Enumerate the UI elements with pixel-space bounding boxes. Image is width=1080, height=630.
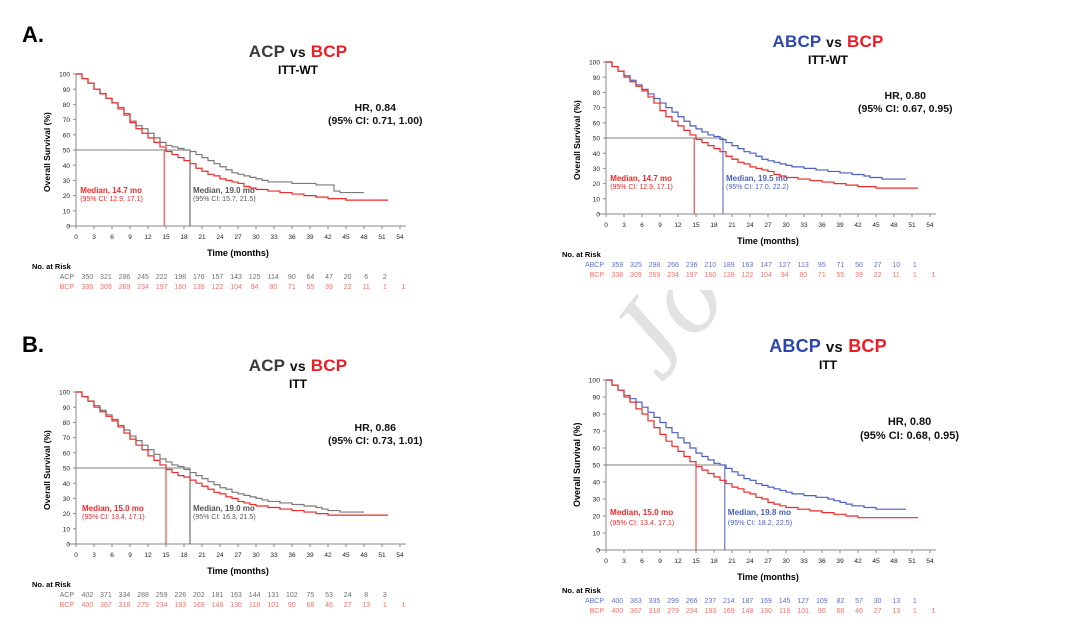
x-tick-label: 39 [306,552,314,559]
risk-cell: 197 [152,283,171,293]
x-tick-label: 36 [288,552,296,559]
x-tick-label: 42 [854,558,862,565]
risk-cell: 90 [813,607,832,617]
risk-table-row: BCP4003673182792341931691481301181019068… [48,601,431,611]
panel-b-letter: B. [22,332,44,358]
risk-table-header: No. at Risk [32,580,71,589]
x-axis-label: Time (months) [606,572,930,582]
risk-table-header: No. at Risk [562,250,601,259]
risk-cell: 193 [171,601,190,611]
median-annotation-red: Median, 15.0 mo(95% CI: 13.4, 17.1) [610,508,674,527]
x-tick-label: 45 [872,222,880,229]
risk-cell: 371 [97,591,116,601]
survival-plot: 1009080706050403020100036912151821242730… [18,40,538,244]
risk-cell: 266 [682,597,701,607]
y-tick-label: 20 [63,193,71,200]
risk-cell: 245 [134,273,153,283]
risk-cell: 266 [664,261,683,271]
risk-cell: 400 [608,607,627,617]
median-red-label: Median, 14.7 mo [610,174,673,184]
y-tick-label: 40 [592,480,600,487]
x-tick-label: 27 [234,234,242,241]
y-tick-label: 0 [66,542,70,549]
y-tick-label: 60 [63,450,71,457]
x-tick-label: 54 [926,558,934,565]
y-tick-label: 0 [596,548,600,555]
median-annotation-red: Median, 14.7 mo(95% CI: 12.9, 17.1) [80,186,143,205]
y-tick-label: 80 [593,90,601,97]
x-tick-label: 54 [926,222,934,229]
y-tick-label: 10 [63,208,71,215]
risk-table-row: ABCP400363335299266237214187169145127109… [578,597,961,607]
x-tick-label: 0 [74,234,78,241]
risk-cell: 114 [264,273,283,283]
x-tick-label: 27 [764,558,772,565]
x-tick-label: 9 [128,552,132,559]
risk-row-label: BCP [578,607,608,617]
risk-cell: 187 [738,597,757,607]
y-tick-label: 100 [59,390,70,397]
x-tick-label: 6 [110,234,114,241]
panel-a-letter: A. [22,22,44,48]
risk-cell: 1 [924,607,943,617]
x-tick-label: 18 [710,222,718,229]
x-tick-label: 12 [144,234,152,241]
risk-cell: 222 [152,273,171,283]
risk-cell: 94 [775,271,794,281]
risk-cell: 27 [338,601,357,611]
y-tick-label: 60 [592,446,600,453]
risk-cell: 1 [906,261,925,271]
median-annotation-other: Median, 19.0 mo(95% CI: 15.7, 21.5) [193,186,256,205]
risk-cell: 125 [245,273,264,283]
x-tick-label: 3 [622,222,626,229]
risk-table-row: BCP4003673182792341931691481301181019068… [578,607,961,617]
risk-cell: 147 [757,261,776,271]
x-tick-label: 9 [658,222,662,229]
risk-cell: 94 [245,283,264,293]
x-tick-label: 48 [890,558,898,565]
risk-row-label: ABCP [578,597,608,607]
risk-cell: 359 [608,261,627,271]
risk-cell: 169 [720,607,739,617]
y-tick-label: 30 [63,178,71,185]
median-other-ci: (95% CI: 16.3, 21.5) [193,514,256,523]
y-tick-label: 0 [66,224,70,231]
survival-plot: 1009080706050403020100036912151821242730… [18,348,538,562]
risk-cell: 259 [152,591,171,601]
risk-table: ABCP400363335299266237214187169145127109… [578,597,961,617]
risk-cell: 39 [850,271,869,281]
x-tick-label: 30 [252,234,260,241]
x-tick-label: 24 [216,234,224,241]
risk-cell: 234 [152,601,171,611]
risk-cell: 1 [394,283,413,293]
risk-cell: 27 [868,261,887,271]
x-axis-label: Time (months) [606,236,930,246]
risk-cell: 102 [283,591,302,601]
y-tick-label: 60 [593,120,601,127]
risk-cell: 71 [813,271,832,281]
x-tick-label: 51 [378,552,386,559]
risk-cell: 286 [115,273,134,283]
risk-cell: 321 [97,273,116,283]
risk-cell: 143 [227,273,246,283]
x-tick-label: 48 [360,234,368,241]
risk-cell: 101 [794,607,813,617]
x-tick-label: 51 [378,234,386,241]
risk-cell: 20 [338,273,357,283]
risk-cell: 118 [775,607,794,617]
risk-cell: 338 [608,271,627,281]
risk-cell: 80 [794,271,813,281]
y-tick-label: 100 [59,72,70,79]
risk-cell: 1 [906,271,925,281]
risk-cell: 367 [627,607,646,617]
median-other-label: Median, 19.8 mo [728,508,792,518]
risk-cell: 104 [757,271,776,281]
risk-cell: 101 [264,601,283,611]
median-red-label: Median, 15.0 mo [610,508,674,518]
risk-cell: 80 [264,283,283,293]
x-tick-label: 15 [162,552,170,559]
x-tick-label: 0 [74,552,78,559]
risk-cell: 24 [338,591,357,601]
risk-cell: 163 [227,591,246,601]
risk-cell: 325 [627,261,646,271]
risk-cell: 57 [850,597,869,607]
risk-cell: 269 [645,271,664,281]
risk-cell: 22 [868,271,887,281]
risk-cell: 400 [608,597,627,607]
risk-cell: 139 [190,283,209,293]
y-tick-label: 90 [593,75,601,82]
x-tick-label: 6 [640,558,644,565]
x-tick-label: 51 [908,222,916,229]
risk-cell: 30 [868,597,887,607]
risk-cell: 13 [357,601,376,611]
median-annotation-other: Median, 19.5 mo(95% CI: 17.0, 22.2) [726,174,789,193]
y-tick-label: 20 [63,511,71,518]
chart-panel-b-left: ACP vs BCPITTHR, 0.86(95% CI: 0.73, 1.01… [18,348,538,629]
risk-table-header: No. at Risk [562,586,601,595]
risk-cell: 148 [208,601,227,611]
risk-cell: 202 [190,591,209,601]
x-tick-label: 9 [658,558,662,565]
y-tick-label: 20 [592,514,600,521]
x-tick-label: 24 [746,558,754,565]
y-tick-label: 100 [589,378,601,385]
y-tick-label: 30 [592,497,600,504]
risk-cell: 309 [627,271,646,281]
risk-cell: 113 [794,261,813,271]
x-axis-label: Time (months) [76,248,400,258]
risk-cell: 46 [320,601,339,611]
x-tick-label: 0 [604,222,608,229]
chart-panel-b-right: ABCP vs BCPITTHR, 0.80(95% CI: 0.68, 0.9… [548,330,1068,629]
risk-cell: 309 [97,283,116,293]
risk-cell: 169 [757,597,776,607]
x-tick-label: 42 [324,552,332,559]
risk-table-header: No. at Risk [32,262,71,271]
x-tick-label: 33 [270,552,278,559]
x-tick-label: 21 [728,222,736,229]
x-tick-label: 45 [342,234,350,241]
risk-cell: 318 [645,607,664,617]
x-tick-label: 30 [782,558,790,565]
risk-cell: 176 [190,273,209,283]
risk-cell: 71 [831,261,850,271]
y-tick-label: 40 [63,481,71,488]
x-tick-label: 48 [890,222,898,229]
risk-cell: 130 [757,607,776,617]
risk-row-label: BCP [48,601,78,611]
risk-row-label: ABCP [578,261,608,271]
survival-curve-abcp [606,62,906,179]
survival-curve-bcp [76,74,388,200]
median-red-ci: (95% CI: 13.4, 17.1) [82,514,145,523]
risk-cell: 198 [171,273,190,283]
risk-cell: 71 [283,283,302,293]
x-tick-label: 30 [252,552,260,559]
risk-cell: 22 [338,283,357,293]
y-tick-label: 30 [593,166,601,173]
risk-cell: 367 [97,601,116,611]
risk-cell: 68 [831,607,850,617]
risk-row-label: BCP [48,283,78,293]
median-red-label: Median, 14.7 mo [80,186,143,196]
x-axis-label: Time (months) [76,566,400,576]
y-tick-label: 10 [592,531,600,538]
x-tick-label: 54 [396,552,404,559]
risk-cell: 75 [301,591,320,601]
median-red-ci: (95% CI: 12.9, 17.1) [610,184,673,193]
y-tick-label: 80 [592,412,600,419]
risk-cell: 169 [190,601,209,611]
x-tick-label: 6 [640,222,644,229]
risk-cell: 160 [701,271,720,281]
risk-cell: 279 [664,607,683,617]
x-tick-label: 48 [360,552,368,559]
risk-cell: 13 [887,607,906,617]
risk-cell: 214 [720,597,739,607]
y-tick-label: 70 [63,435,71,442]
risk-cell: 47 [320,273,339,283]
risk-cell: 1 [376,601,395,611]
x-tick-label: 27 [764,222,772,229]
y-tick-label: 40 [593,151,601,158]
risk-cell: 2 [376,273,395,283]
y-tick-label: 90 [63,405,71,412]
risk-cell: 279 [134,601,153,611]
median-red-ci: (95% CI: 13.4, 17.1) [610,518,674,527]
risk-cell: 139 [720,271,739,281]
y-tick-label: 10 [63,526,71,533]
y-tick-label: 100 [589,60,600,67]
risk-table-row: BCP3383092692341971601391221049480715539… [578,271,961,281]
risk-cell: 27 [868,607,887,617]
risk-cell: 335 [645,597,664,607]
risk-cell: 1 [906,607,925,617]
x-tick-label: 24 [746,222,754,229]
x-tick-label: 21 [728,558,736,565]
y-tick-label: 70 [593,105,601,112]
risk-cell: 400 [78,601,97,611]
risk-cell: 109 [813,597,832,607]
y-tick-label: 20 [593,181,601,188]
x-tick-label: 30 [782,222,790,229]
risk-row-label: ACP [48,273,78,283]
risk-cell: 193 [701,607,720,617]
x-tick-label: 15 [692,222,700,229]
x-tick-label: 24 [216,552,224,559]
risk-cell: 237 [701,597,720,607]
risk-cell: 131 [264,591,283,601]
risk-table-row: ACP3503212862452221981761571431251149064… [48,273,431,283]
x-tick-label: 15 [162,234,170,241]
risk-cell: 46 [850,607,869,617]
y-tick-label: 50 [63,148,71,155]
risk-cell: 1 [376,283,395,293]
risk-row-label: BCP [578,271,608,281]
risk-cell: 10 [887,261,906,271]
risk-cell: 163 [738,261,757,271]
risk-cell: 269 [115,283,134,293]
risk-table-row: ACP4023713342882592262021811631441311027… [48,591,431,601]
risk-cell: 234 [682,607,701,617]
x-tick-label: 12 [674,558,682,565]
risk-cell: 127 [794,597,813,607]
x-tick-label: 36 [288,234,296,241]
chart-panel-a-left: ACP vs BCPITT-WTHR, 0.84(95% CI: 0.71, 1… [18,40,538,330]
risk-cell: 338 [78,283,97,293]
median-annotation-red: Median, 15.0 mo(95% CI: 13.4, 17.1) [82,504,145,523]
x-tick-label: 54 [396,234,404,241]
risk-cell: 148 [738,607,757,617]
x-tick-label: 21 [198,234,206,241]
risk-row-label: ACP [48,591,78,601]
risk-cell: 226 [171,591,190,601]
x-tick-label: 18 [710,558,718,565]
risk-cell: 197 [682,271,701,281]
median-other-ci: (95% CI: 18.2, 22.5) [728,518,792,527]
risk-cell: 234 [134,283,153,293]
risk-cell: 118 [245,601,264,611]
risk-cell: 39 [320,283,339,293]
risk-cell: 144 [245,591,264,601]
median-annotation-red: Median, 14.7 mo(95% CI: 12.9, 17.1) [610,174,673,193]
risk-table-row: BCP3383092692341971601391221049480715539… [48,283,431,293]
x-tick-label: 39 [306,234,314,241]
x-tick-label: 12 [144,552,152,559]
median-annotation-other: Median, 19.8 mo(95% CI: 18.2, 22.5) [728,508,792,527]
risk-cell: 122 [208,283,227,293]
x-tick-label: 18 [180,552,188,559]
y-tick-label: 60 [63,132,71,139]
y-tick-label: 10 [593,196,601,203]
x-tick-label: 15 [692,558,700,565]
risk-cell: 50 [850,261,869,271]
y-tick-label: 90 [63,87,71,94]
median-other-ci: (95% CI: 15.7, 21.5) [193,196,256,205]
y-tick-label: 80 [63,420,71,427]
median-other-label: Median, 19.0 mo [193,186,256,196]
survival-curve-acp [76,74,364,193]
risk-cell: 160 [171,283,190,293]
x-tick-label: 6 [110,552,114,559]
chart-panel-a-right: ABCP vs BCPITT-WTHR, 0.80(95% CI: 0.67, … [548,40,1068,330]
x-tick-label: 42 [324,234,332,241]
x-tick-label: 3 [92,552,96,559]
median-red-label: Median, 15.0 mo [82,504,145,514]
x-tick-label: 42 [854,222,862,229]
risk-cell: 350 [78,273,97,283]
risk-cell: 334 [115,591,134,601]
median-other-ci: (95% CI: 17.0, 22.2) [726,184,789,193]
risk-cell: 298 [645,261,664,271]
risk-cell: 82 [831,597,850,607]
risk-cell: 90 [283,273,302,283]
risk-cell: 130 [227,601,246,611]
risk-cell: 127 [775,261,794,271]
survival-curve-bcp [76,392,388,515]
y-tick-label: 30 [63,496,71,503]
risk-cell: 189 [720,261,739,271]
risk-table: ABCP359325298266236210189163147127113957… [578,261,961,281]
risk-cell: 122 [738,271,757,281]
risk-cell: 55 [301,283,320,293]
risk-cell: 64 [301,273,320,283]
x-tick-label: 39 [836,222,844,229]
x-tick-label: 33 [800,558,808,565]
y-tick-label: 50 [593,136,601,143]
y-tick-label: 40 [63,163,71,170]
x-tick-label: 27 [234,552,242,559]
x-tick-label: 51 [908,558,916,565]
risk-cell: 13 [887,597,906,607]
x-tick-label: 39 [836,558,844,565]
x-tick-label: 36 [818,558,826,565]
median-annotation-other: Median, 19.0 mo(95% CI: 16.3, 21.5) [193,504,256,523]
risk-table-row: ABCP359325298266236210189163147127113957… [578,261,961,271]
risk-cell: 3 [376,591,395,601]
risk-cell: 104 [227,283,246,293]
risk-cell: 299 [664,597,683,607]
risk-cell: 11 [357,283,376,293]
y-tick-label: 0 [596,212,600,219]
risk-cell: 8 [357,591,376,601]
risk-cell: 236 [682,261,701,271]
risk-cell: 363 [627,597,646,607]
y-tick-label: 50 [63,466,71,473]
risk-cell: 210 [701,261,720,271]
risk-cell: 1 [906,597,925,607]
survival-plot: 1009080706050403020100036912151821242730… [548,40,1068,232]
risk-cell: 68 [301,601,320,611]
risk-cell: 181 [208,591,227,601]
x-tick-label: 18 [180,234,188,241]
risk-cell: 90 [283,601,302,611]
x-tick-label: 33 [270,234,278,241]
x-tick-label: 3 [622,558,626,565]
y-tick-label: 80 [63,102,71,109]
risk-cell: 53 [320,591,339,601]
median-other-label: Median, 19.0 mo [193,504,256,514]
median-other-label: Median, 19.5 mo [726,174,789,184]
x-tick-label: 21 [198,552,206,559]
x-tick-label: 12 [674,222,682,229]
x-tick-label: 3 [92,234,96,241]
